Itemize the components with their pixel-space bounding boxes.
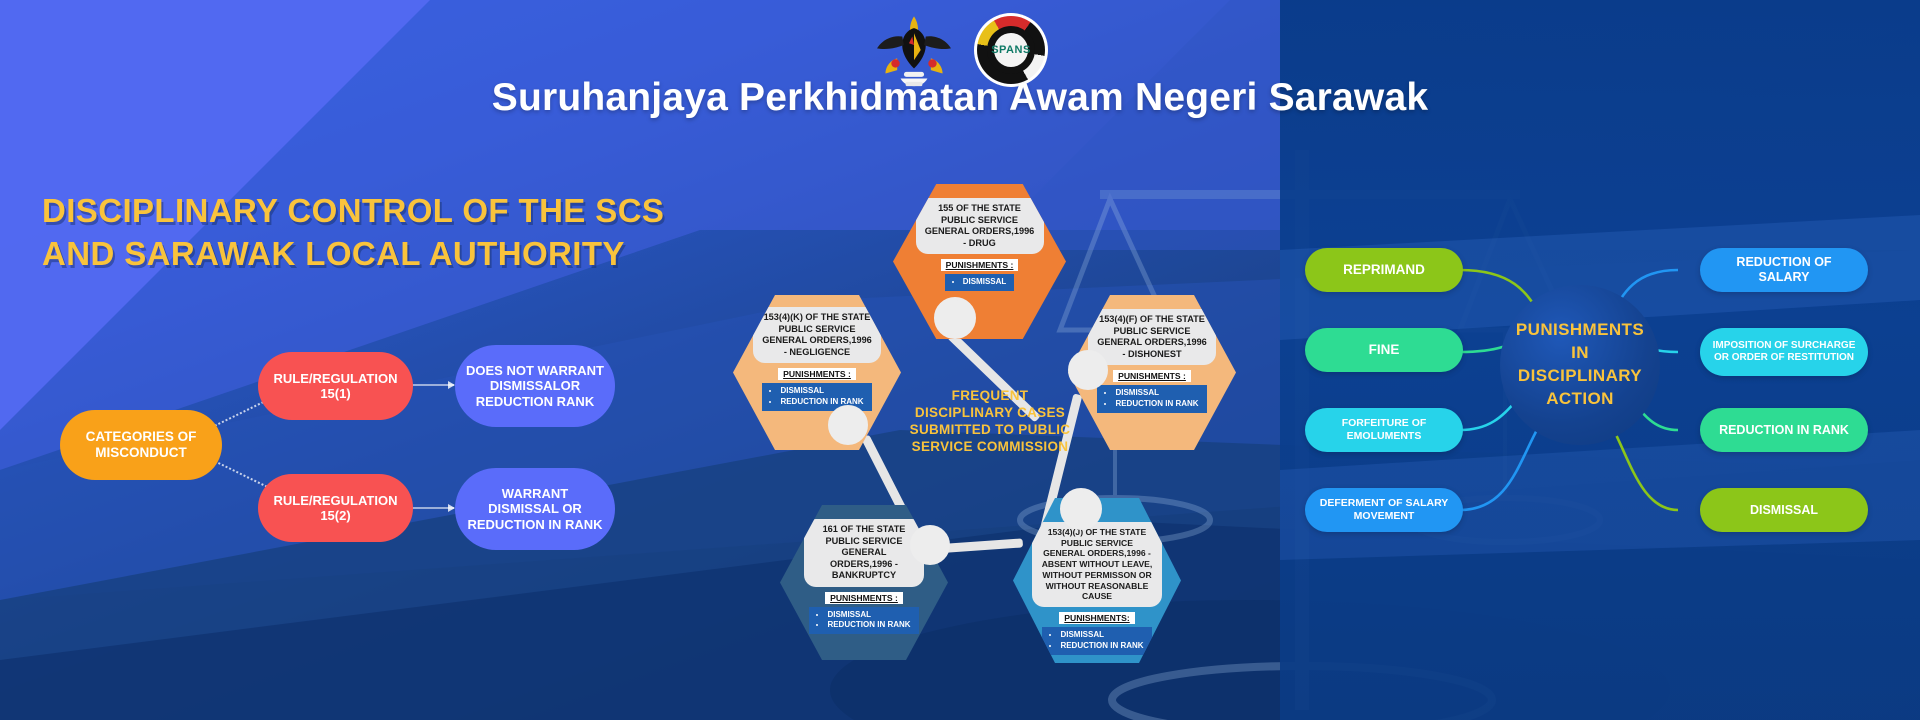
organization-title: Suruhanjaya Perkhidmatan Awam Negeri Sar… (0, 76, 1920, 120)
mindmap-right-item-reduction-of-salary[interactable]: REDUCTION OF SALARY (1700, 248, 1868, 292)
center-label-line-4: SERVICE COMMISSION (900, 439, 1080, 456)
page-headline: DISCIPLINARY CONTROL OF THE SCS AND SARA… (42, 190, 702, 276)
flow-node-outcome-15-1[interactable]: DOES NOT WARRANT DISMISSALOR REDUCTION R… (455, 345, 615, 427)
hub-line-1: PUNISHMENTS (1516, 319, 1644, 342)
mindmap-right-item-reduction-in-rank[interactable]: REDUCTION IN RANK (1700, 408, 1868, 452)
network-node-absent-punishments: DISMISSAL REDUCTION IN RANK (1042, 627, 1151, 655)
punishment-item: REDUCTION IN RANK (1115, 399, 1198, 410)
network-node-drug-title: 155 OF THE STATE PUBLIC SERVICE GENERAL … (916, 198, 1044, 254)
punishment-item: REDUCTION IN RANK (1060, 641, 1143, 652)
network-node-absent-title: 153(4)(J) OF THE STATE PUBLIC SERVICE GE… (1032, 522, 1162, 607)
mindmap-hub[interactable]: PUNISHMENTS IN DISCIPLINARY ACTION (1500, 285, 1660, 445)
infographic-canvas: SPANS Suruhanjaya Perkhidmatan Awam Nege… (0, 0, 1920, 720)
flow-node-rule-15-1[interactable]: RULE/REGULATION 15(1) (258, 352, 413, 420)
network-node-drug-punishments-label: PUNISHMENTS : (941, 259, 1019, 271)
mindmap-left-item-reprimand[interactable]: REPRIMAND (1305, 248, 1463, 292)
hub-line-3: DISCIPLINARY (1516, 365, 1644, 388)
headline-line-1: DISCIPLINARY CONTROL OF THE SCS (42, 190, 702, 233)
punishment-item: REDUCTION IN RANK (827, 620, 910, 631)
network-node-bankruptcy-punishments-label: PUNISHMENTS : (825, 592, 903, 604)
network-hub-dot-absent (1060, 488, 1102, 530)
mindmap-left-item-deferment-of-salary-movement[interactable]: DEFERMENT OF SALARY MOVEMENT (1305, 488, 1463, 532)
flow-node-categories-of-misconduct[interactable]: CATEGORIES OF MISCONDUCT (60, 410, 222, 480)
hub-line-4: ACTION (1516, 388, 1644, 411)
network-node-drug-punishments: DISMISSAL (945, 274, 1015, 291)
network-center-label: FREQUENT DISCIPLINARY CASES SUBMITTED TO… (900, 388, 1080, 456)
network-hub-dot-bankruptcy (910, 525, 950, 565)
flow-connector-rule2-to-outcome2 (412, 507, 454, 509)
punishment-item: DISMISSAL (1115, 388, 1198, 399)
mindmap-left-item-forfeiture-of-emoluments[interactable]: FORFEITURE OF EMOLUMENTS (1305, 408, 1463, 452)
mindmap-right-item-dismissal[interactable]: DISMISSAL (1700, 488, 1868, 532)
flow-connector-rule1-to-outcome1 (412, 384, 454, 386)
flow-node-outcome-15-2[interactable]: WARRANT DISMISSAL OR REDUCTION IN RANK (455, 468, 615, 550)
punishment-item: DISMISSAL (780, 386, 863, 397)
headline-line-2: AND SARAWAK LOCAL AUTHORITY (42, 233, 702, 276)
flow-node-rule-15-2[interactable]: RULE/REGULATION 15(2) (258, 474, 413, 542)
punishment-item: DISMISSAL (1060, 630, 1143, 641)
center-label-line-3: SUBMITTED TO PUBLIC (900, 422, 1080, 439)
center-label-line-2: DISCIPLINARY CASES (900, 405, 1080, 422)
punishment-item: DISMISSAL (963, 277, 1007, 288)
mindmap-left-item-fine[interactable]: FINE (1305, 328, 1463, 372)
network-hub-dot-negligence (828, 405, 868, 445)
network-hub-dot-drug (934, 297, 976, 339)
network-hub-dot-dishonest (1068, 350, 1108, 390)
network-node-dishonest-title: 153(4)(F) OF THE STATE PUBLIC SERVICE GE… (1088, 309, 1216, 365)
network-node-dishonest-punishments-label: PUNISHMENTS : (1113, 370, 1191, 382)
center-label-line-1: FREQUENT (900, 388, 1080, 405)
network-node-dishonest-punishments: DISMISSAL REDUCTION IN RANK (1097, 385, 1206, 413)
hub-line-2: IN (1516, 342, 1644, 365)
network-node-negligence-title: 153(4)(K) OF THE STATE PUBLIC SERVICE GE… (753, 307, 881, 363)
network-node-bankruptcy-punishments: DISMISSAL REDUCTION IN RANK (809, 607, 918, 635)
network-node-absent-punishments-label: PUNISHMENTS: (1059, 612, 1134, 624)
network-node-negligence-punishments-label: PUNISHMENTS : (778, 368, 856, 380)
spans-logo-text: SPANS (994, 33, 1029, 68)
mindmap-right-item-imposition-of-surcharge[interactable]: IMPOSITION OF SURCHARGE OR ORDER OF REST… (1700, 328, 1868, 376)
punishment-item: DISMISSAL (827, 610, 910, 621)
network-node-bankruptcy-title: 161 OF THE STATE PUBLIC SERVICE GENERAL … (804, 519, 924, 587)
